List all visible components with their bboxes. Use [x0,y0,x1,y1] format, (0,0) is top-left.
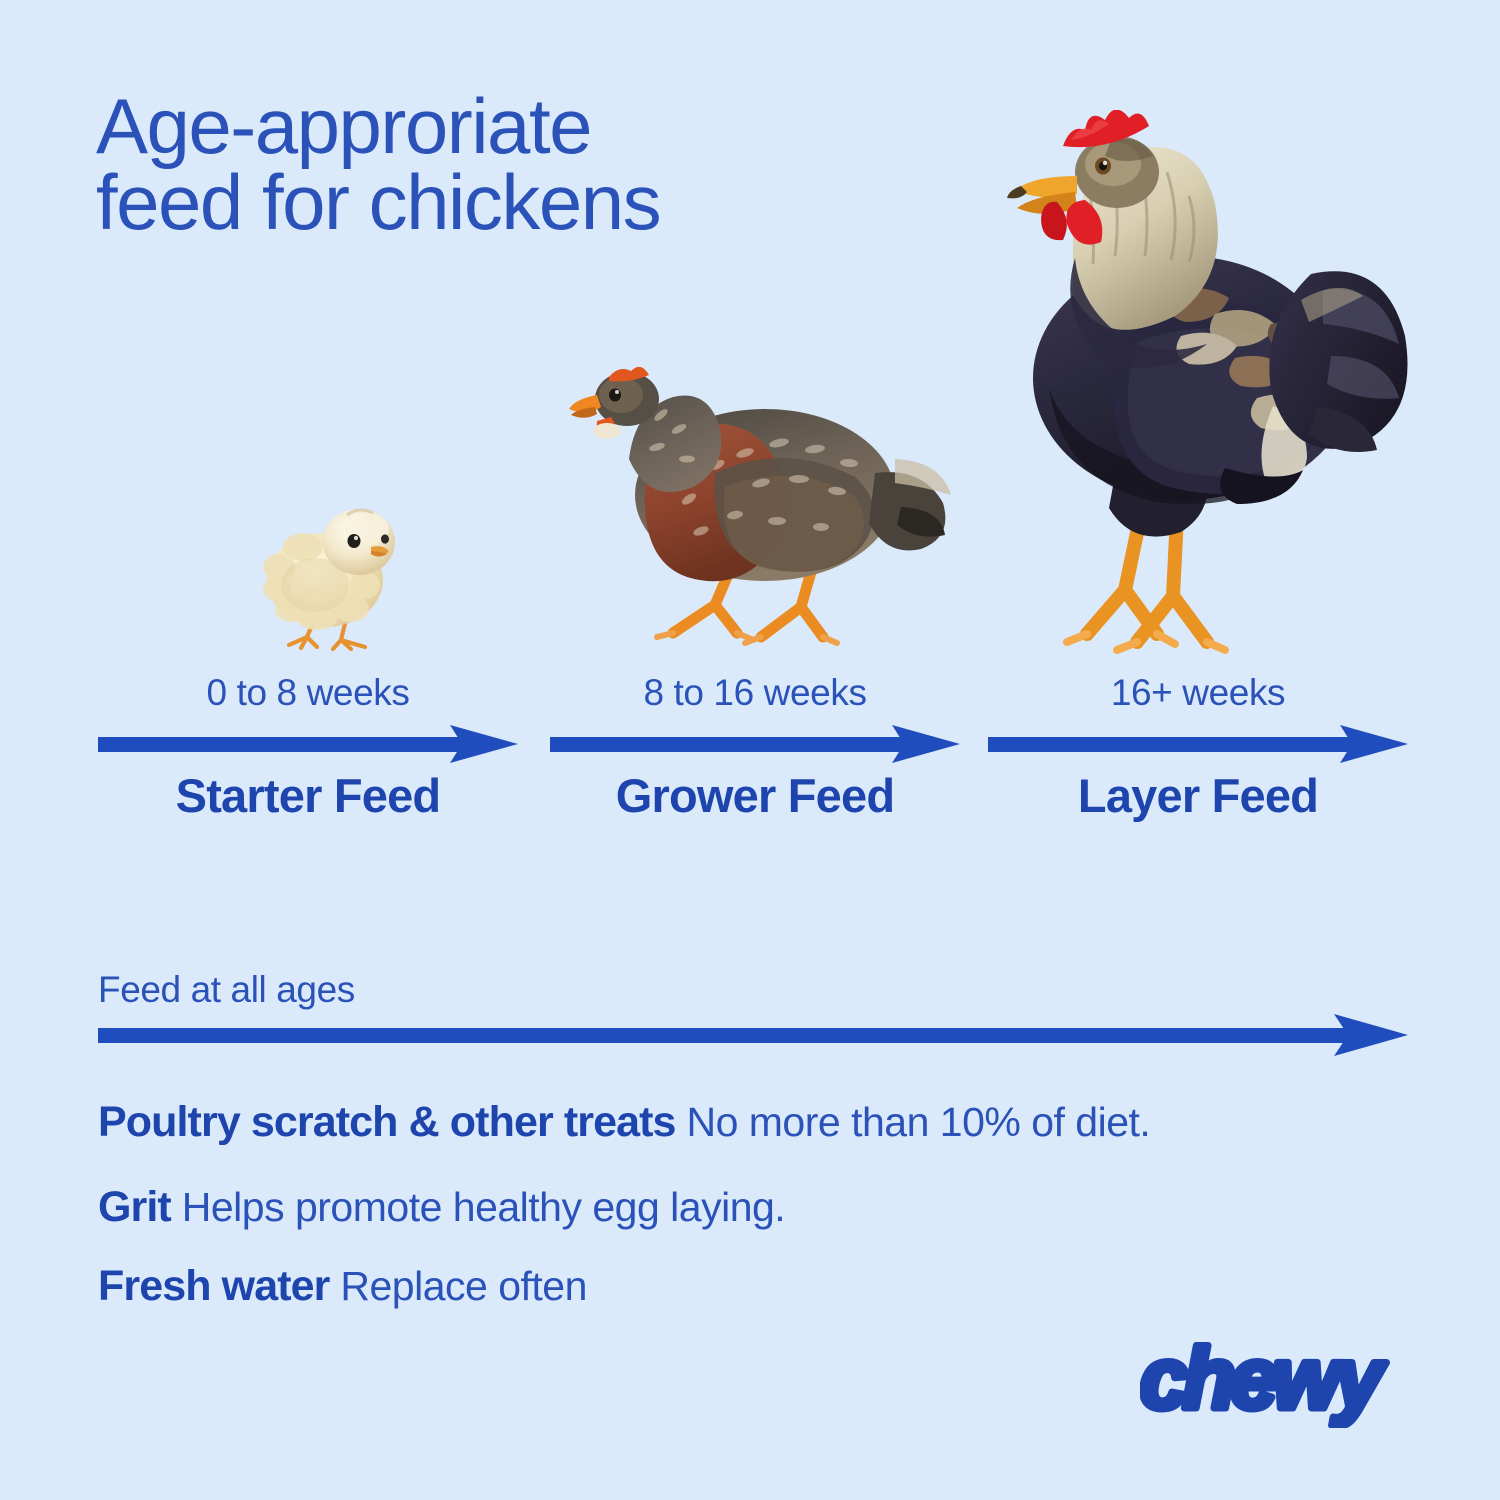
timeline-arrow-icon [988,723,1408,765]
infographic-canvas: Age-approriate feed for chickens [0,0,1500,1500]
segment-feed-name: Starter Feed [98,768,518,823]
timeline-segment-grower: 8 to 16 weeks Grower Feed [550,672,960,832]
timeline-arrow-icon [98,723,518,765]
item-desc: Replace often [340,1263,587,1309]
item-desc: No more than 10% of diet. [686,1099,1150,1145]
timeline-segment-starter: 0 to 8 weeks Starter Feed [98,672,518,832]
hen-photo [925,110,1415,655]
page-title: Age-approriate feed for chickens [96,88,976,241]
chick-photo [255,485,415,660]
all-ages-item-treats: Poultry scratch & other treats No more t… [98,1098,1150,1147]
all-ages-label: Feed at all ages [98,969,355,1011]
segment-age-label: 0 to 8 weeks [98,672,518,714]
all-ages-item-water: Fresh water Replace often [98,1262,587,1311]
timeline-arrow-icon [550,723,960,765]
segment-age-label: 16+ weeks [988,672,1408,714]
item-term: Fresh water [98,1262,329,1310]
item-term: Grit [98,1183,171,1231]
segment-feed-name: Grower Feed [550,768,960,823]
all-ages-arrow-icon [98,1011,1408,1059]
all-ages-item-grit: Grit Helps promote healthy egg laying. [98,1183,785,1232]
item-term: Poultry scratch & other treats [98,1098,676,1146]
item-desc: Helps promote healthy egg laying. [182,1184,785,1230]
pullet-photo [565,355,960,655]
segment-age-label: 8 to 16 weeks [550,672,960,714]
chewy-logo: chewy [1140,1332,1398,1428]
chewy-wordmark: chewy [1140,1332,1387,1427]
timeline-segment-layer: 16+ weeks Layer Feed [988,672,1408,832]
segment-feed-name: Layer Feed [988,768,1408,823]
